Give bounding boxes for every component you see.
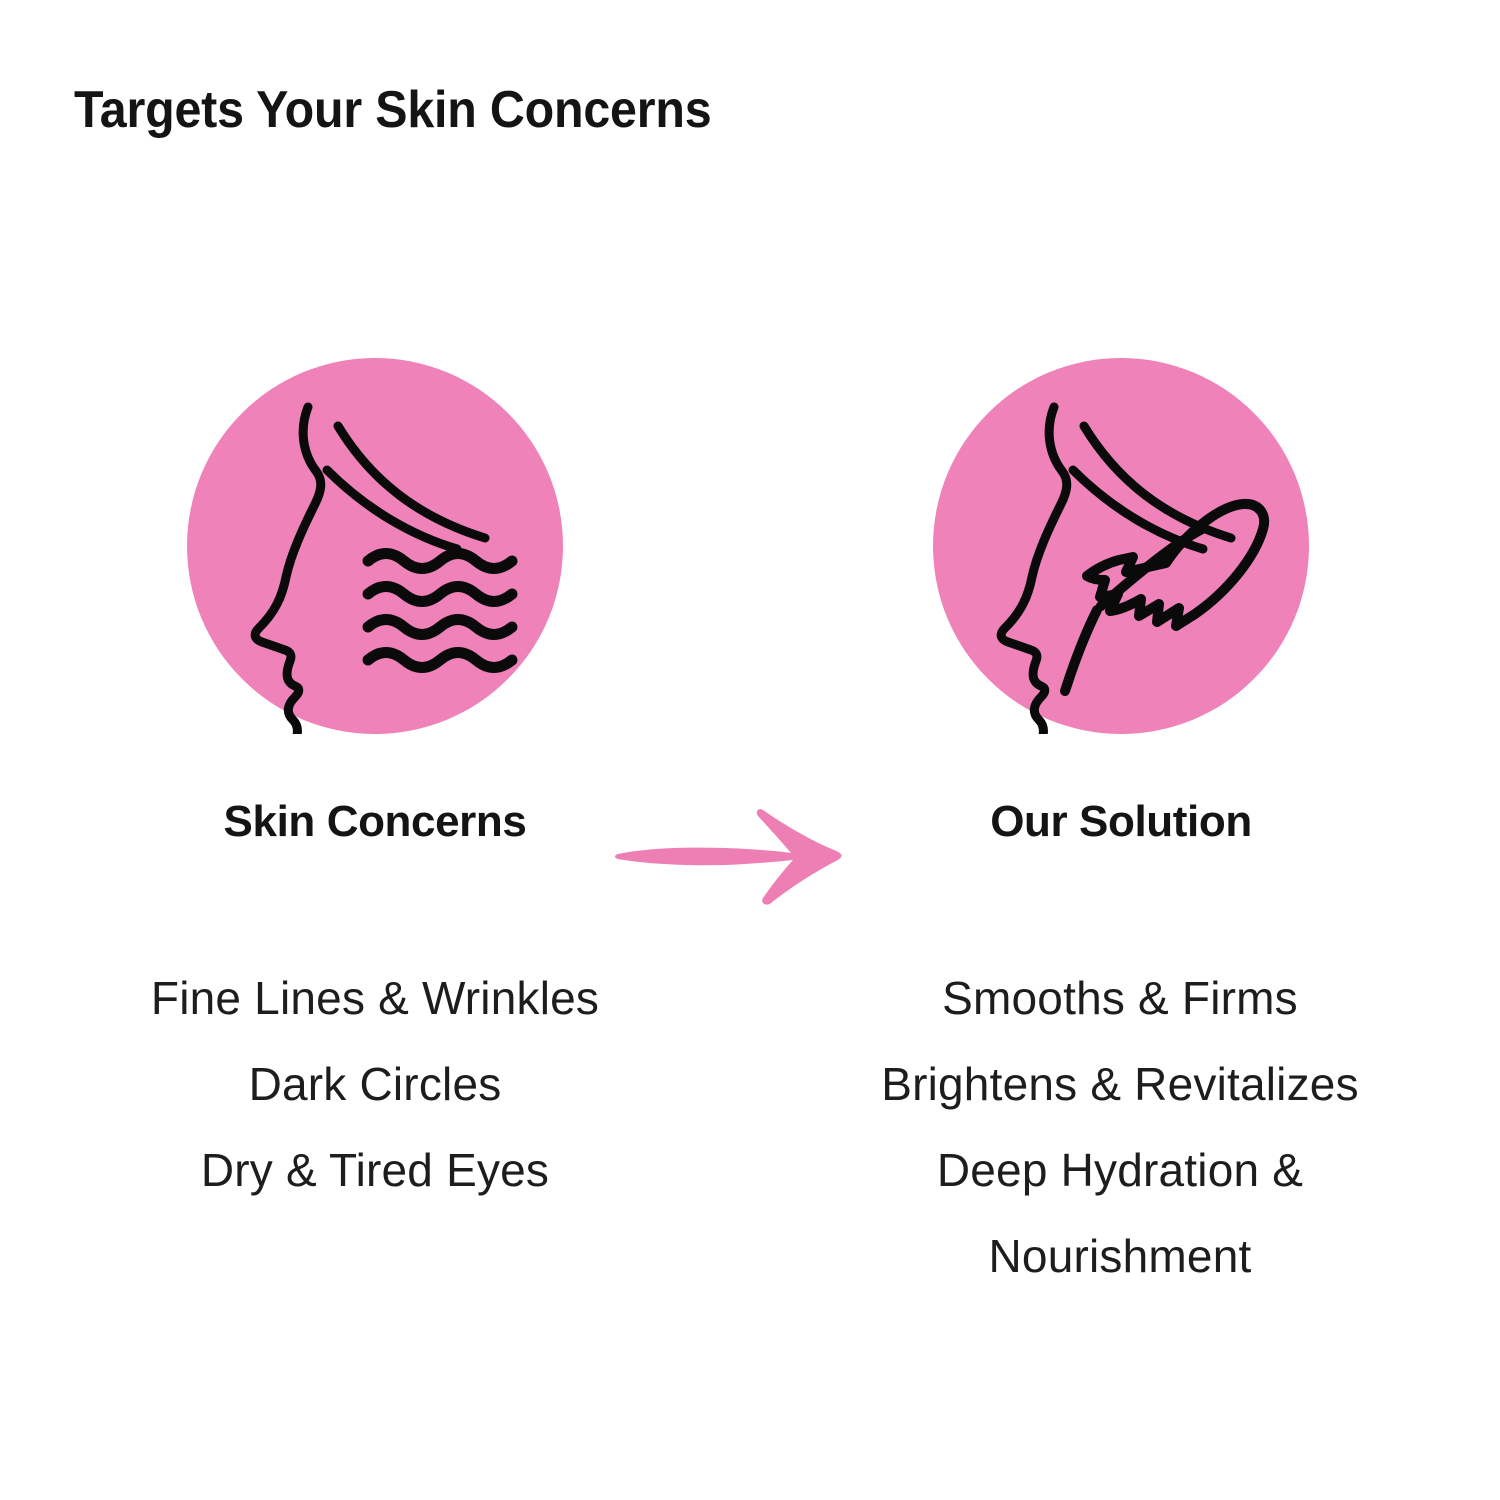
list-item: Deep Hydration & (820, 1127, 1420, 1213)
list-item: Fine Lines & Wrinkles (75, 955, 675, 1041)
face-profile-wrinkles-icon (187, 358, 563, 734)
concerns-list: Fine Lines & Wrinkles Dark Circles Dry &… (75, 955, 675, 1213)
concerns-heading: Skin Concerns (187, 790, 563, 854)
face-profile-feather-icon (933, 358, 1309, 734)
list-item: Brightens & Revitalizes (820, 1041, 1420, 1127)
list-item: Dark Circles (75, 1041, 675, 1127)
list-item: Dry & Tired Eyes (75, 1127, 675, 1213)
icons-row (0, 358, 1500, 734)
solution-heading: Our Solution (933, 790, 1309, 854)
skin-concerns-infographic: { "title": "Targets Your Skin Concerns",… (0, 0, 1500, 1500)
concerns-icon-wrap (187, 358, 563, 734)
arrow-right-icon (608, 796, 878, 916)
list-item: Smooths & Firms (820, 955, 1420, 1041)
solution-icon-wrap (933, 358, 1309, 734)
solution-list: Smooths & Firms Brightens & Revitalizes … (820, 955, 1420, 1299)
page-title: Targets Your Skin Concerns (74, 80, 711, 140)
column-headings-row: Skin Concerns Our Solution (0, 790, 1500, 900)
list-item: Nourishment (820, 1213, 1420, 1299)
